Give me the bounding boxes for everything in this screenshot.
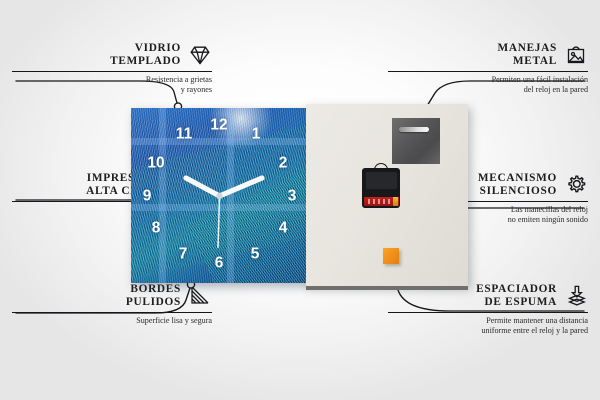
product-photo-clock-back	[306, 104, 468, 286]
battery-contact	[393, 197, 398, 206]
feature-title: VIDRIO TEMPLADO	[110, 42, 181, 67]
minute-hand	[220, 178, 263, 196]
divider	[388, 312, 588, 313]
feature-subtitle: Resistencia a grietas y rayones	[12, 75, 212, 94]
feature-title: ESPACIADOR DE ESPUMA	[476, 283, 557, 308]
second-hand	[218, 196, 220, 248]
infographic-canvas: VIDRIO TEMPLADO Resistencia a grietas y …	[0, 0, 600, 400]
divider	[12, 71, 212, 72]
picture-hanger-icon	[564, 43, 588, 67]
panel-edge	[306, 286, 468, 290]
feature-subtitle: Permiten una fácil instalación del reloj…	[388, 75, 588, 94]
feature-subtitle: Superficie lisa y segura	[12, 316, 212, 326]
arrow-down-layers-icon	[564, 284, 588, 308]
feature-tempered-glass: VIDRIO TEMPLADO Resistencia a grietas y …	[12, 42, 212, 94]
foam-spacer-pad	[383, 248, 399, 264]
metal-hanger-plate	[392, 118, 440, 164]
gear-icon	[564, 173, 588, 197]
product-photo-clock-front: 12 1 2 3 4 5 6 7 8 9 10 11	[131, 108, 308, 283]
hour-hand	[186, 178, 220, 196]
diamond-icon	[188, 43, 212, 67]
feature-polished-edges: BORDES PULIDOS Superficie lisa y segura	[12, 283, 212, 326]
feature-metal-handles: MANEJAS METAL Permiten una fácil instala…	[388, 42, 588, 94]
feature-title: MECANISMO SILENCIOSO	[478, 172, 557, 197]
clock-hands	[131, 108, 308, 283]
feature-title: MANEJAS METAL	[497, 42, 557, 67]
polished-edge-icon	[188, 284, 212, 308]
feature-title: BORDES PULIDOS	[126, 283, 181, 308]
divider	[12, 312, 212, 313]
mechanism-hanger-loop	[374, 163, 388, 170]
feature-subtitle: Permite mantener una distancia uniforme …	[388, 316, 588, 335]
divider	[388, 71, 588, 72]
clock-center-cap	[216, 193, 222, 199]
feature-foam-spacer: ESPACIADOR DE ESPUMA Permite mantener un…	[388, 283, 588, 335]
mechanism-body	[366, 172, 397, 189]
hanger-slot	[399, 127, 429, 132]
clock-mechanism	[362, 168, 400, 208]
